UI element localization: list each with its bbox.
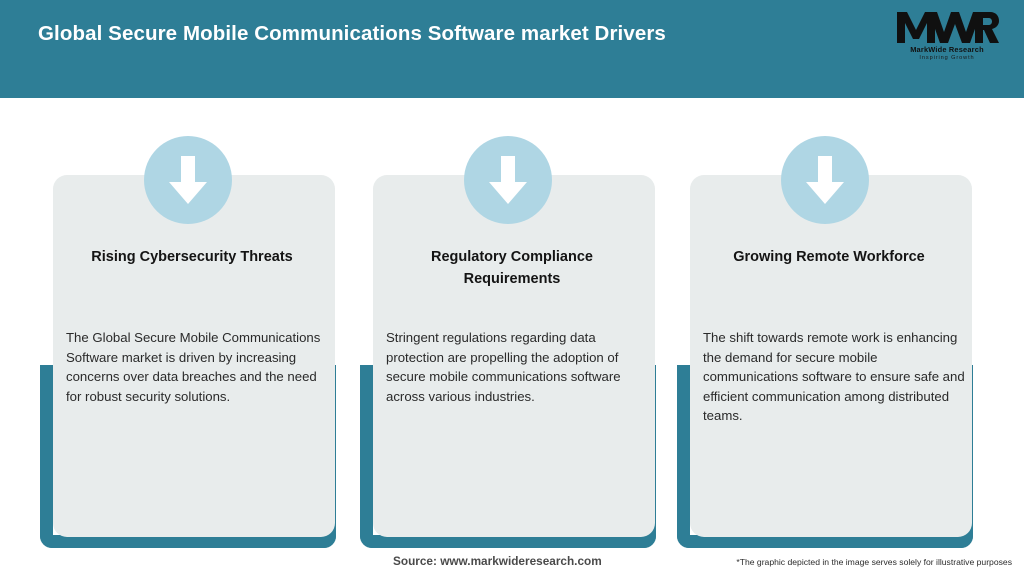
logo-company-name: MarkWide Research	[892, 45, 1002, 54]
brand-logo: MarkWide Research Inspiring Growth	[892, 10, 1002, 68]
down-arrow-icon	[144, 136, 232, 224]
bracket-left-bar	[677, 365, 690, 548]
card-title: Growing Remote Workforce	[699, 246, 959, 268]
source-label: Source: www.markwideresearch.com	[393, 554, 602, 568]
disclaimer-note: *The graphic depicted in the image serve…	[736, 557, 1012, 567]
mwr-logo-icon	[892, 10, 1002, 44]
driver-card[interactable]: Rising Cybersecurity Threats The Global …	[40, 98, 340, 538]
page-title: Global Secure Mobile Communications Soft…	[38, 22, 666, 46]
down-arrow-icon	[781, 136, 869, 224]
card-body-text: The Global Secure Mobile Communications …	[66, 328, 328, 406]
driver-card[interactable]: Regulatory Compliance Requirements Strin…	[360, 98, 660, 538]
card-body-text: Stringent regulations regarding data pro…	[386, 328, 648, 406]
driver-cards-row: Rising Cybersecurity Threats The Global …	[0, 98, 1024, 538]
bracket-left-bar	[40, 365, 53, 548]
card-title: Regulatory Compliance Requirements	[382, 246, 642, 290]
card-title: Rising Cybersecurity Threats	[62, 246, 322, 268]
logo-tagline: Inspiring Growth	[892, 55, 1002, 61]
header-bar: Global Secure Mobile Communications Soft…	[0, 0, 1024, 98]
card-body-text: The shift towards remote work is enhanci…	[703, 328, 965, 426]
bracket-left-bar	[360, 365, 373, 548]
driver-card[interactable]: Growing Remote Workforce The shift towar…	[677, 98, 977, 538]
down-arrow-icon	[464, 136, 552, 224]
